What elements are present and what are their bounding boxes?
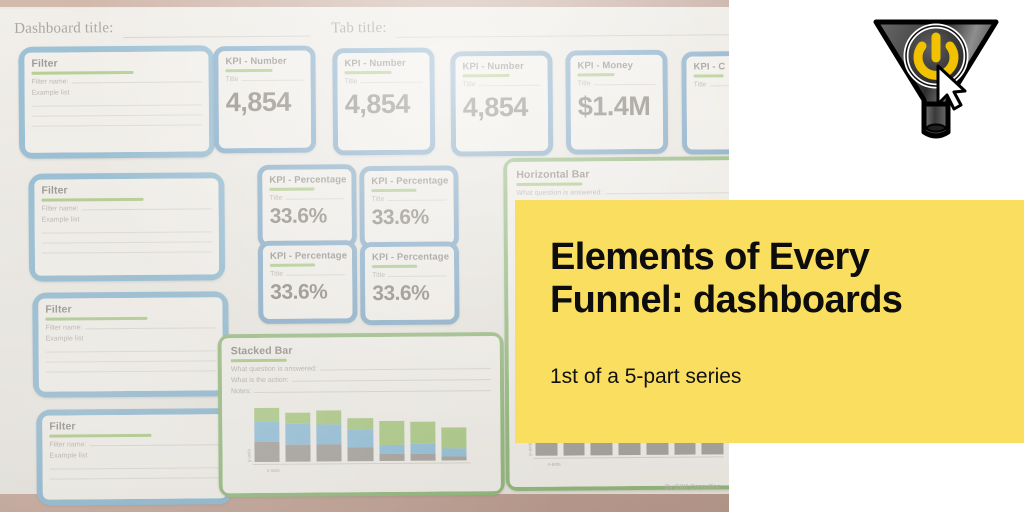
banner-title: Elements of EveryFunnel: dashboards [550,236,1010,321]
filter-card-title: Filter [41,183,211,196]
bar-segment-blue [441,448,466,456]
bar-6 [410,422,435,461]
kpi-title-input-line[interactable] [387,199,446,200]
filter-name-input-line[interactable] [72,81,202,83]
accent-underline [49,434,151,438]
kpi-title-label: Title [269,195,282,202]
filter-card[interactable]: Filter Filter name: Example list [36,408,233,506]
kpi-title-label: Title [226,76,239,83]
list-line[interactable] [32,104,202,106]
kpi-title-label: Title [371,196,384,203]
dashboard-title-rule [123,36,310,38]
kpi-title-row[interactable]: Title [270,270,345,278]
kpi-card-title: KPI - Percentage [270,250,345,262]
kpi-card-body: KPI - Money Title $1.4M [570,55,663,150]
bar-segment-gray [286,445,311,462]
kpi-title-row[interactable]: Title [463,81,541,89]
bar-segment-green [254,408,279,422]
kpi-card-title: KPI - Number [462,61,540,73]
kpi-title-input-line[interactable] [285,198,344,199]
accent-underline [45,317,147,321]
filter-name-row[interactable]: Filter name: [49,440,219,448]
filter-list-label: Example list [32,88,202,96]
filter-card-body: Filter Filter name: Example list [34,178,219,275]
chart-action-label: What is the action: [231,377,289,384]
kpi-value: 33.6% [270,204,345,229]
filter-card-body: Filter Filter name: Example list [38,297,223,391]
bar-segment-gray [379,454,404,461]
kpi-title-input-line[interactable] [286,274,345,275]
filter-list-label: Example list [46,334,216,342]
list-line[interactable] [46,350,216,352]
filter-name-input-line[interactable] [85,327,215,329]
bar-segment-green [316,410,341,424]
kpi-percentage-card[interactable]: KPI - Percentage Title 33.6% [360,241,460,325]
bar-2 [285,413,311,462]
accent-underline [578,73,615,76]
kpi-card-body: KPI - C Title [686,56,729,150]
tab-title-label: Tab title: [331,20,387,37]
sketch-footer-credit: By G&K Consulting [665,483,721,490]
kpi-title-label: Title [270,271,283,278]
chart-question-line[interactable] [605,192,729,194]
list-line[interactable] [42,241,212,243]
kpi-value: 33.6% [372,205,447,230]
accent-underline [371,189,416,192]
filter-name-row[interactable]: Filter name: [42,204,212,212]
kpi-title-row[interactable]: Title [269,194,344,202]
accent-underline [372,265,417,268]
funnel-power-cursor-icon [862,8,1010,148]
bar-segment-green [379,421,404,445]
kpi-value [694,92,729,93]
chart-title: Stacked Bar [231,343,491,357]
tab-title-rule [395,34,729,38]
chart-y-axis-label: y-axis [527,443,533,456]
bar-1 [254,408,280,462]
bar-5 [379,421,404,461]
chart-notes-row[interactable]: Notes: [231,386,491,395]
kpi-title-input-line[interactable] [361,82,423,83]
bar-segment-gray [348,447,373,461]
kpi-title-label: Title [578,80,591,87]
bar-segment-green [441,427,466,448]
accent-underline [231,359,287,362]
kpi-card-title: KPI - Percentage [371,175,446,187]
kpi-money-card[interactable]: KPI - Money Title $1.4M [565,50,668,155]
kpi-title-row[interactable]: Title [578,80,656,88]
chart-x-axis-label: x-axis [267,468,280,474]
bar-segment-blue [410,444,435,454]
chart-y-axis-label: y-axis [246,449,252,462]
list-line[interactable] [42,231,212,233]
chart-notes-label: Notes: [231,388,251,395]
chart-question-label: What question is answered: [231,366,317,374]
kpi-percentage-card[interactable]: KPI - Percentage Title 33.6% [359,165,459,249]
kpi-number-card[interactable]: KPI - Number Title 4,854 [213,46,316,154]
kpi-card-title: KPI - Percentage [269,174,344,186]
kpi-title-input-line[interactable] [479,85,541,86]
chart-question-line[interactable] [320,368,491,370]
kpi-title-label: Title [463,81,476,88]
filter-card[interactable]: Filter Filter name: Example list [28,172,225,282]
kpi-card-body: KPI - Percentage Title 33.6% [365,246,455,320]
list-line[interactable] [50,467,220,469]
kpi-card-title: KPI - Number [225,56,303,68]
bar-segment-blue [254,422,279,442]
funnel-logo [862,8,1010,148]
filter-card[interactable]: Filter Filter name: Example list [18,45,215,159]
filter-card-title: Filter [31,56,201,69]
accent-underline [345,71,392,74]
accent-underline [694,74,724,77]
kpi-card-title: KPI - Percentage [372,251,447,263]
kpi-title-label: Title [372,272,385,279]
kpi-number-card[interactable]: KPI - Number Title 4,854 [332,48,435,156]
chart-baseline [534,456,724,458]
kpi-title-input-line[interactable] [710,85,729,86]
bar-segment-blue [348,429,373,447]
filter-list-label: Example list [50,451,220,459]
chart-card-body: Stacked Bar What question is answered: W… [222,336,501,493]
filter-name-label: Filter name: [32,78,69,85]
kpi-value: 4,854 [226,87,304,119]
kpi-value: 4,854 [345,89,423,121]
chart-question-row[interactable]: What question is answered: [516,188,729,197]
filter-name-label: Filter name: [45,324,82,331]
accent-underline [42,198,144,202]
slide-canvas: Dashboard title: Tab title: Filter Filte… [0,0,1024,512]
chart-action-row[interactable]: What is the action: [231,375,491,384]
filter-name-input-line[interactable] [82,208,212,210]
kpi-card-title: KPI - Money [577,60,655,72]
kpi-title-input-line[interactable] [594,84,656,85]
filter-card-body: Filter Filter name: Example list [42,414,227,499]
kpi-card-title: KPI - C [693,61,729,73]
list-line[interactable] [46,360,216,362]
stacked-bar-chart-card[interactable]: Stacked Bar What question is answered: W… [218,332,505,497]
bar-segment-blue [317,424,342,444]
bar-segment-green [348,418,373,429]
list-line[interactable] [32,124,202,126]
list-line[interactable] [46,370,216,372]
bar-segment-gray [317,444,342,461]
filter-name-label: Filter name: [49,441,86,448]
kpi-value: $1.4M [578,91,656,123]
chart-question-label: What question is answered: [516,189,602,197]
filter-card[interactable]: Filter Filter name: Example list [32,291,229,398]
chart-question-row[interactable]: What question is answered: [231,364,491,373]
accent-underline [463,74,510,77]
dashboard-title-label: Dashboard title: [14,20,114,38]
bar-4 [348,418,373,461]
filter-list-label: Example list [42,215,212,223]
kpi-card-body: KPI - Percentage Title 33.6% [263,245,353,319]
filter-name-label: Filter name: [42,205,79,212]
kpi-percentage-card[interactable]: KPI - Percentage Title 33.6% [257,164,357,248]
kpi-title-row[interactable]: Title [226,76,304,84]
list-line[interactable] [50,477,220,479]
chart-notes-line[interactable] [254,390,491,393]
filter-card-title: Filter [49,419,219,432]
banner-subtitle: 1st of a 5-part series [550,365,741,389]
kpi-title-row[interactable]: Title [694,81,729,89]
list-line[interactable] [32,114,202,116]
kpi-value: 33.6% [372,281,447,306]
kpi-title-row[interactable]: Title [372,271,447,279]
accent-underline [32,71,134,75]
kpi-card-body: KPI - Number Title 4,854 [455,56,548,152]
bar-7 [441,427,466,460]
bar-segment-gray [441,456,466,460]
kpi-count-card[interactable]: KPI - C Title [681,51,729,155]
bar-segment-green [285,413,310,424]
accent-underline [516,182,582,186]
chart-title: Horizontal Bar [516,167,729,181]
kpi-title-label: Title [345,78,358,85]
kpi-card-body: KPI - Number Title 4,854 [337,53,430,151]
filter-name-row[interactable]: Filter name: [45,323,215,331]
filter-card-body: Filter Filter name: Example list [24,51,209,152]
kpi-card-body: KPI - Percentage Title 33.6% [364,170,454,244]
bar-3 [316,410,342,461]
bar-segment-blue [379,445,404,454]
banner-title-line1: Elements of Every [550,236,869,278]
kpi-title-row[interactable]: Title [345,78,423,86]
kpi-card-title: KPI - Number [344,58,422,70]
kpi-number-card[interactable]: KPI - Number Title 4,854 [450,51,553,157]
kpi-value: 4,854 [463,92,541,124]
list-line[interactable] [42,251,212,253]
bar-segment-green [410,422,435,444]
bar-segment-gray [254,442,279,462]
chart-x-axis-label: x-axis [548,462,561,468]
kpi-percentage-card[interactable]: KPI - Percentage Title 33.6% [258,240,358,324]
kpi-title-input-line[interactable] [388,275,447,276]
accent-underline [225,69,272,72]
kpi-title-input-line[interactable] [242,80,304,81]
chart-baseline [253,462,471,465]
kpi-card-body: KPI - Number Title 4,854 [218,51,311,149]
filter-card-title: Filter [45,302,215,315]
chart-action-line[interactable] [292,379,491,382]
accent-underline [270,264,315,267]
kpi-card-body: KPI - Percentage Title 33.6% [262,169,352,243]
kpi-value: 33.6% [270,280,345,305]
banner-title-line2: Funnel: dashboards [550,279,902,321]
kpi-title-row[interactable]: Title [371,195,446,203]
bar-segment-blue [285,424,310,445]
filter-name-input-line[interactable] [89,444,219,446]
accent-underline [269,188,314,191]
filter-name-row[interactable]: Filter name: [32,77,202,85]
kpi-title-label: Title [694,81,707,88]
bar-segment-gray [410,454,435,461]
title-banner: Elements of EveryFunnel: dashboards 1st … [515,200,1024,443]
stacked-bar-plot [254,400,466,462]
